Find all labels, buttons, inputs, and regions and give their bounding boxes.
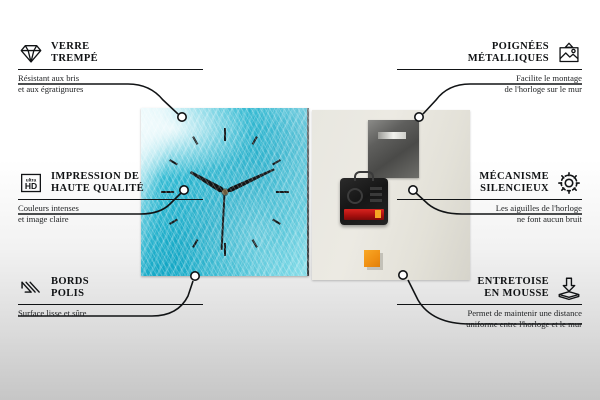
clock-mechanism-part	[340, 178, 388, 225]
feature-rule	[397, 304, 582, 305]
clock-tick	[225, 191, 289, 193]
clock-second-hand	[221, 192, 226, 250]
clock-tick	[224, 136, 258, 192]
feature-header: ENTRETOISEEN MOUSSE	[397, 275, 582, 301]
feature-header: POIGNÉESMÉTALLIQUES	[397, 40, 582, 66]
clock-tick	[224, 192, 226, 256]
feature-description: Résistant aux briset aux égratignures	[18, 73, 203, 94]
feature-description: Surface lisse et sûre	[18, 308, 203, 319]
clock-minute-hand	[224, 167, 275, 194]
feature-verre-trempe: VERRETREMPÉ Résistant aux briset aux égr…	[18, 40, 203, 95]
feature-rule	[397, 199, 582, 200]
feature-bords-polis: BORDSPOLIS Surface lisse et sûre	[18, 275, 203, 319]
ultra-hd-icon: ultra HD	[18, 170, 44, 196]
feature-description: Permet de maintenir une distanceuniforme…	[397, 308, 582, 329]
feature-impression-haute-qualite: ultra HD IMPRESSION DEHAUTE QUALITÉ Coul…	[18, 170, 203, 225]
foam-spacer-arrow-icon	[556, 275, 582, 301]
feature-title: MÉCANISMESILENCIEUX	[479, 171, 549, 196]
feature-title: BORDSPOLIS	[51, 276, 89, 301]
clock-center-cap	[222, 189, 228, 195]
feature-header: VERRETREMPÉ	[18, 40, 203, 66]
feature-poignees-metalliques: POIGNÉESMÉTALLIQUES Facilite le montaged…	[397, 40, 582, 95]
clock-tick	[225, 159, 281, 193]
feature-mecanisme-silencieux: MÉCANISMESILENCIEUX Les aiguilles de l'h…	[397, 170, 582, 225]
feature-description: Les aiguilles de l'horlogene font aucun …	[397, 203, 582, 224]
feature-entretoise-en-mousse: ENTRETOISEEN MOUSSE Permet de maintenir …	[397, 275, 582, 330]
foam-spacer-part	[364, 250, 380, 267]
infographic-canvas: VERRETREMPÉ Résistant aux briset aux égr…	[0, 0, 600, 400]
feature-header: BORDSPOLIS	[18, 275, 203, 301]
mechanism-vents	[370, 187, 382, 190]
clock-tick	[224, 192, 258, 248]
feature-header: ultra HD IMPRESSION DEHAUTE QUALITÉ	[18, 170, 203, 196]
clock-tick	[224, 128, 226, 192]
feature-title: ENTRETOISEEN MOUSSE	[477, 276, 549, 301]
feature-header: MÉCANISMESILENCIEUX	[397, 170, 582, 196]
feature-description: Couleurs intenseset image claire	[18, 203, 203, 224]
feature-rule	[18, 199, 203, 200]
clock-tick	[225, 191, 281, 225]
feature-description: Facilite le montagede l'horloge sur le m…	[397, 73, 582, 94]
gear-icon	[556, 170, 582, 196]
feature-rule	[397, 69, 582, 70]
picture-frame-hanging-icon	[556, 40, 582, 66]
polished-edges-icon	[18, 275, 44, 301]
feature-rule	[18, 69, 203, 70]
feature-title: VERRETREMPÉ	[51, 41, 98, 66]
feature-rule	[18, 304, 203, 305]
handle-slot	[378, 132, 406, 139]
svg-text:HD: HD	[25, 181, 37, 191]
mechanism-dial	[347, 188, 363, 204]
battery-part	[344, 209, 384, 220]
diamond-icon	[18, 40, 44, 66]
feature-title: POIGNÉESMÉTALLIQUES	[468, 41, 549, 66]
mechanism-hanger-loop	[354, 171, 374, 181]
feature-title: IMPRESSION DEHAUTE QUALITÉ	[51, 171, 144, 196]
